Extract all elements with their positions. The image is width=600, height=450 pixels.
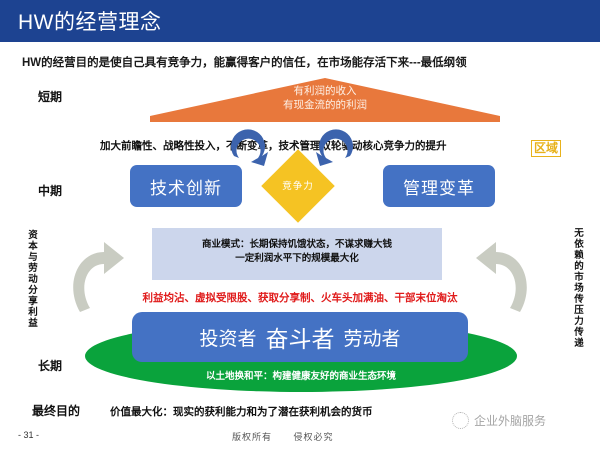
circular-arrow-right-icon [312, 122, 356, 166]
circular-arrow-left-icon [228, 122, 272, 166]
business-model-line-1: 商业模式：长期保持饥饿状态，不谋求赚大钱 [152, 238, 442, 252]
red-policy-line: 利益均沾、虚拟受限股、获取分享制、火车头加满油、干部末位淘汰 [0, 290, 600, 305]
gray-curved-arrow-right-icon [472, 240, 530, 320]
stakeholder-investor: 投资者 [199, 324, 256, 351]
watermark: 企业外脑服务 [452, 412, 546, 429]
orange-chevron-shape [150, 78, 500, 122]
business-model-text-block: 商业模式：长期保持饥饿状态，不谋求赚大钱 一定利润水平下的规模最大化 [152, 238, 442, 266]
stage-label-long-term: 长期 [38, 357, 62, 374]
slide-title: HW的经营理念 [18, 6, 162, 36]
green-ellipse-caption: 以土地换和平：构建健康友好的商业生态环境 [85, 368, 517, 382]
watermark-label: 企业外脑服务 [474, 412, 546, 429]
watermark-logo-icon [452, 412, 469, 429]
gray-curved-arrow-left-icon [70, 240, 128, 320]
left-vertical-label: 资本与劳动分享利益 [26, 230, 40, 329]
tech-innovation-box[interactable]: 技术创新 [130, 165, 242, 207]
copyright-text-2: 侵权必究 [294, 432, 334, 442]
management-reform-box[interactable]: 管理变革 [383, 165, 495, 207]
stakeholder-striver: 奋斗者 [266, 320, 335, 354]
value-maximization-line: 价值最大化：现实的获利能力和为了潜在获利机会的货币 [110, 404, 373, 419]
stage-label-mid-term: 中期 [38, 182, 62, 199]
page-number: - 31 - [18, 430, 39, 440]
business-model-line-2: 一定利润水平下的规模最大化 [152, 252, 442, 266]
copyright-notice: 版权所有 侵权必究 [232, 430, 352, 443]
mid-tier-sentence: 加大前瞻性、战略性投入，不断变革，技术管理双轮驱动核心竞争力的提升 [100, 138, 447, 153]
region-tag: 区域 [531, 140, 561, 157]
stage-label-final-goal: 最终目的 [32, 402, 80, 419]
stakeholders-bar[interactable]: 投资者 奋斗者 劳动者 [132, 312, 468, 362]
right-vertical-label: 无依赖的市场传压力传递 [572, 228, 586, 349]
competitiveness-diamond-label: 竞争力 [272, 178, 324, 192]
stage-label-short-term: 短期 [38, 88, 62, 105]
stakeholder-laborer: 劳动者 [344, 324, 401, 351]
title-underline [0, 42, 600, 44]
copyright-text-1: 版权所有 [232, 432, 272, 442]
headline-text: HW的经营目的是使自己具有竞争力，能赢得客户的信任，在市场能存活下来---最低纲… [22, 54, 467, 70]
